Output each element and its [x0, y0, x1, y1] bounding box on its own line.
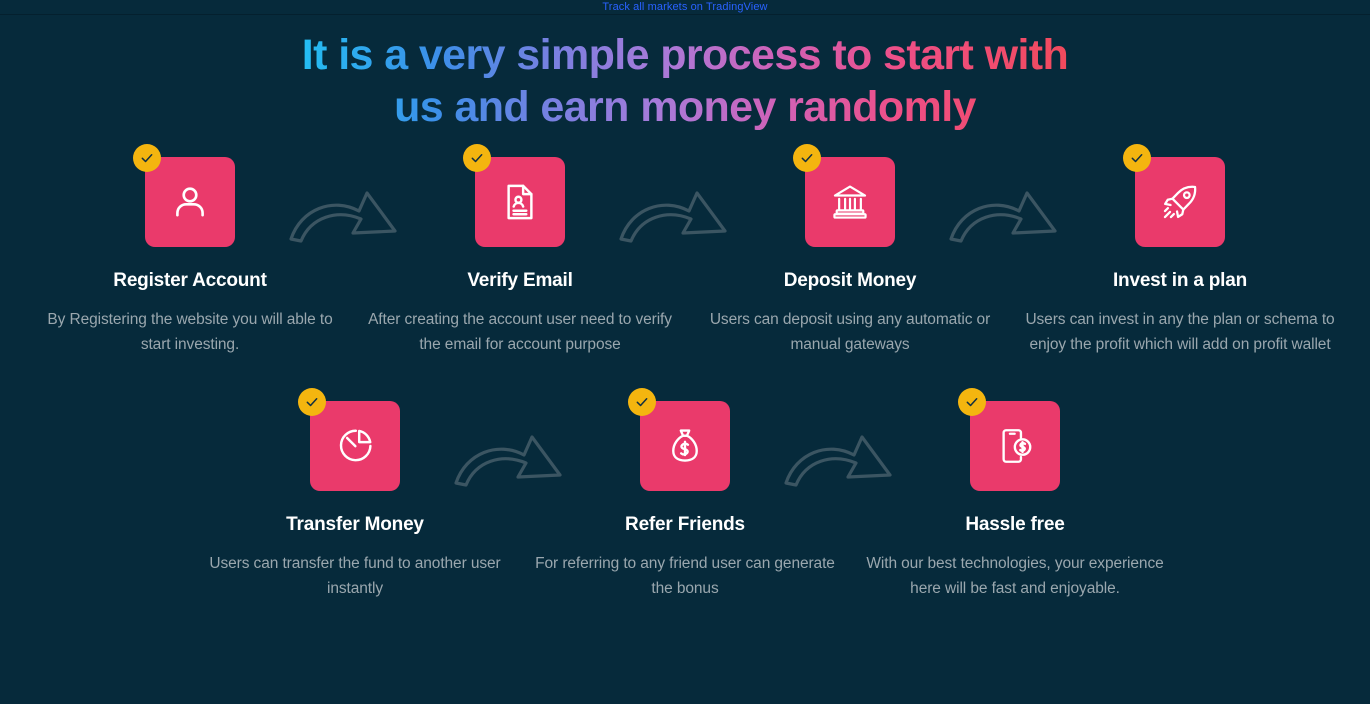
step-title: Hassle free [965, 513, 1064, 537]
step-icon-zone [970, 401, 1060, 491]
check-icon [958, 388, 986, 416]
step-icon-zone [475, 157, 565, 247]
mobile-payment-icon [970, 401, 1060, 491]
tradingview-link[interactable]: Track all markets on TradingView [602, 2, 767, 13]
check-icon [1123, 144, 1151, 172]
step-title: Register Account [113, 269, 266, 293]
check-icon [298, 388, 326, 416]
steps-row-1: Register Account By Registering the webs… [0, 157, 1370, 357]
step-description: For referring to any friend user can gen… [529, 551, 841, 601]
step-description: Users can invest in any the plan or sche… [1024, 307, 1336, 357]
rocket-icon [1135, 157, 1225, 247]
steps-region: Register Account By Registering the webs… [0, 157, 1370, 601]
section-heading-wrapper: It is a very simple process to start wit… [0, 15, 1370, 133]
step-icon-zone [310, 401, 400, 491]
page-title-line-2: us and earn money randomly [302, 81, 1068, 133]
step-description: By Registering the website you will able… [34, 307, 346, 357]
step-card-transfer-money[interactable]: Transfer Money Users can transfer the fu… [190, 401, 520, 601]
step-card-invest-in-a-plan[interactable]: Invest in a plan Users can invest in any… [1015, 157, 1345, 357]
step-icon-zone [640, 401, 730, 491]
page-title: It is a very simple process to start wit… [302, 29, 1068, 133]
money-bag-icon [640, 401, 730, 491]
user-icon [145, 157, 235, 247]
step-description: Users can transfer the fund to another u… [199, 551, 511, 601]
id-document-icon [475, 157, 565, 247]
check-icon [628, 388, 656, 416]
check-icon [793, 144, 821, 172]
bank-icon [805, 157, 895, 247]
step-title: Refer Friends [625, 513, 745, 537]
step-card-refer-friends[interactable]: Refer Friends For referring to any frien… [520, 401, 850, 601]
step-icon-zone [805, 157, 895, 247]
step-icon-zone [145, 157, 235, 247]
step-description: After creating the account user need to … [364, 307, 676, 357]
step-description: Users can deposit using any automatic or… [694, 307, 1006, 357]
step-card-register-account[interactable]: Register Account By Registering the webs… [25, 157, 355, 357]
step-card-hassle-free[interactable]: Hassle free With our best technologies, … [850, 401, 1180, 601]
step-card-deposit-money[interactable]: Deposit Money Users can deposit using an… [685, 157, 1015, 357]
step-icon-zone [1135, 157, 1225, 247]
tradingview-ticker-bar: Track all markets on TradingView [0, 0, 1370, 15]
step-title: Transfer Money [286, 513, 424, 537]
check-icon [463, 144, 491, 172]
steps-row-2: Transfer Money Users can transfer the fu… [0, 401, 1370, 601]
step-title: Invest in a plan [1113, 269, 1247, 293]
check-icon [133, 144, 161, 172]
step-title: Deposit Money [784, 269, 917, 293]
pie-chart-icon [310, 401, 400, 491]
step-card-verify-email[interactable]: Verify Email After creating the account … [355, 157, 685, 357]
step-description: With our best technologies, your experie… [859, 551, 1171, 601]
page-title-line-1: It is a very simple process to start wit… [302, 29, 1068, 81]
step-title: Verify Email [467, 269, 572, 293]
